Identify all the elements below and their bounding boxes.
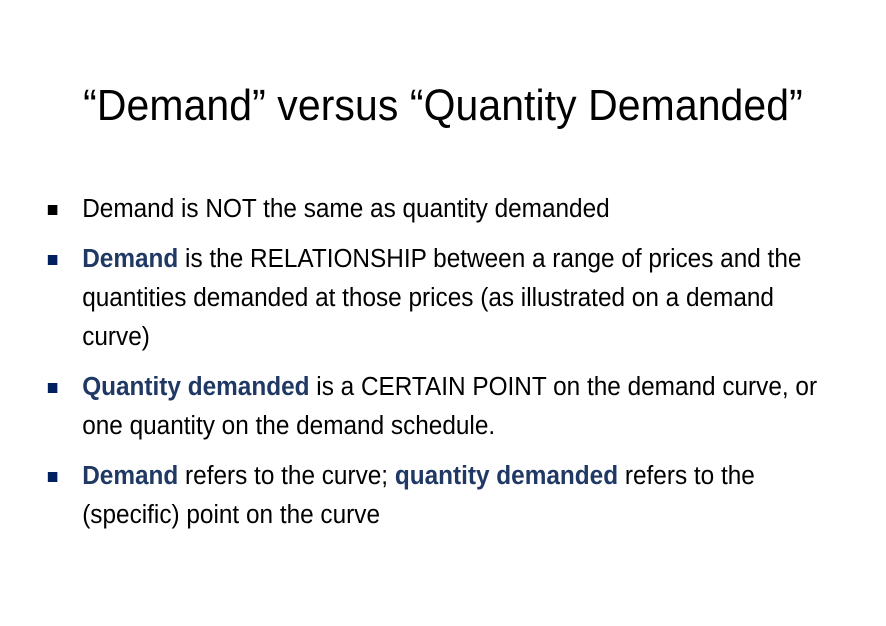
- list-item: Demand is NOT the same as quantity deman…: [44, 190, 818, 229]
- square-bullet-navy-icon: [48, 255, 58, 265]
- plain-text-run: refers to the curve;: [178, 462, 395, 490]
- page-title: “Demand” versus “Quantity Demanded”: [31, 81, 855, 130]
- list-item-text: Demand is the RELATIONSHIP between a ran…: [82, 240, 817, 357]
- emphasized-term: Demand: [82, 245, 178, 273]
- list-item-text: Quantity demanded is a CERTAIN POINT on …: [82, 368, 817, 446]
- plain-text-run: Demand is NOT the same as quantity deman…: [82, 195, 609, 223]
- emphasized-term: quantity demanded: [395, 462, 618, 490]
- emphasized-term: Quantity demanded: [82, 373, 309, 401]
- square-bullet-navy-icon: [48, 383, 58, 393]
- list-item: Quantity demanded is a CERTAIN POINT on …: [44, 368, 818, 446]
- list-item-text: Demand refers to the curve; quantity dem…: [82, 457, 817, 535]
- bullet-list: Demand is NOT the same as quantity deman…: [44, 190, 854, 535]
- square-bullet-navy-icon: [48, 472, 58, 482]
- list-item-text: Demand is NOT the same as quantity deman…: [82, 190, 817, 229]
- plain-text-run: is the RELATIONSHIP between a range of p…: [82, 245, 801, 351]
- slide-canvas: “Demand” versus “Quantity Demanded” Dema…: [0, 0, 886, 626]
- list-item: Demand refers to the curve; quantity dem…: [44, 457, 818, 535]
- emphasized-term: Demand: [82, 462, 178, 490]
- square-bullet-black-icon: [48, 205, 58, 215]
- list-item: Demand is the RELATIONSHIP between a ran…: [44, 240, 818, 357]
